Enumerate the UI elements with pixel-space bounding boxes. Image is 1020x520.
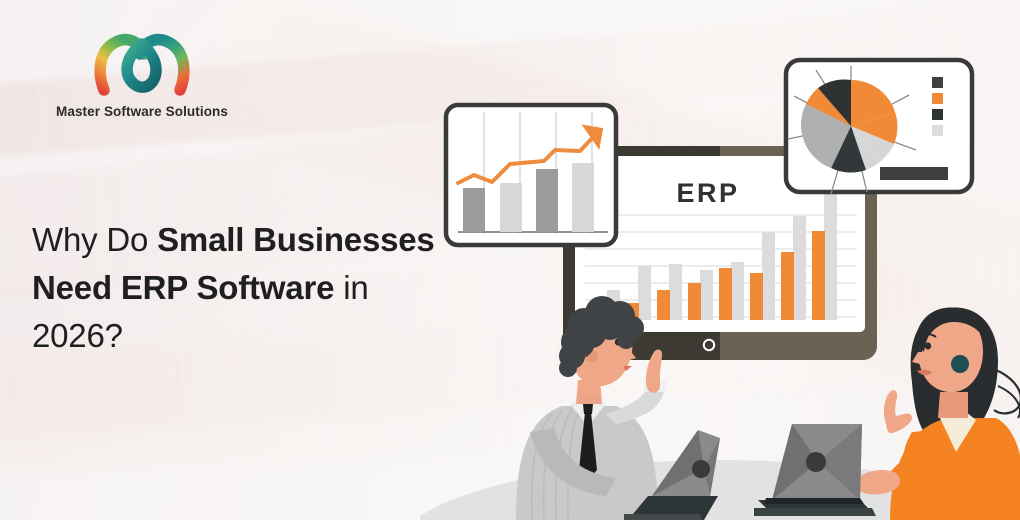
- brand-logo[interactable]: Master Software Solutions: [32, 26, 252, 119]
- woman-neck: [938, 392, 968, 418]
- headline-lead: Why Do: [32, 221, 157, 258]
- legend-swatch-4: [932, 125, 943, 136]
- man-tie-knot: [583, 404, 593, 414]
- laptop-left-logo-dot: [692, 460, 710, 478]
- seated-man: [516, 296, 666, 520]
- laptop-right-keyboard: [764, 498, 864, 504]
- hero-illustration: ERP: [420, 0, 1020, 520]
- page-title: Why Do Small Businesses Need ERP Softwar…: [32, 216, 452, 360]
- legend-swatch-2: [932, 93, 943, 104]
- laptop-left-base-edge: [624, 514, 702, 520]
- promo-banner: Master Software Solutions Why Do Small B…: [0, 0, 1020, 520]
- growth-chart-card: [446, 105, 616, 245]
- legend-swatch-3: [932, 109, 943, 120]
- tablet-screen-title: ERP: [676, 178, 739, 208]
- seated-woman: [854, 307, 1020, 520]
- legend-swatch-1: [932, 77, 943, 88]
- brand-name: Master Software Solutions: [32, 104, 252, 119]
- woman-hand-raised: [884, 390, 912, 433]
- woman-eye: [925, 342, 931, 349]
- laptop-right-base-edge: [754, 508, 876, 516]
- woman-earring: [951, 355, 969, 373]
- illustration-svg: ERP: [420, 0, 1020, 520]
- pie-chart-card: [786, 60, 972, 194]
- master-software-solutions-logo-mark-icon: [86, 26, 198, 98]
- pie-card-footer-bar: [880, 167, 948, 180]
- laptop-right-logo-dot: [806, 452, 826, 472]
